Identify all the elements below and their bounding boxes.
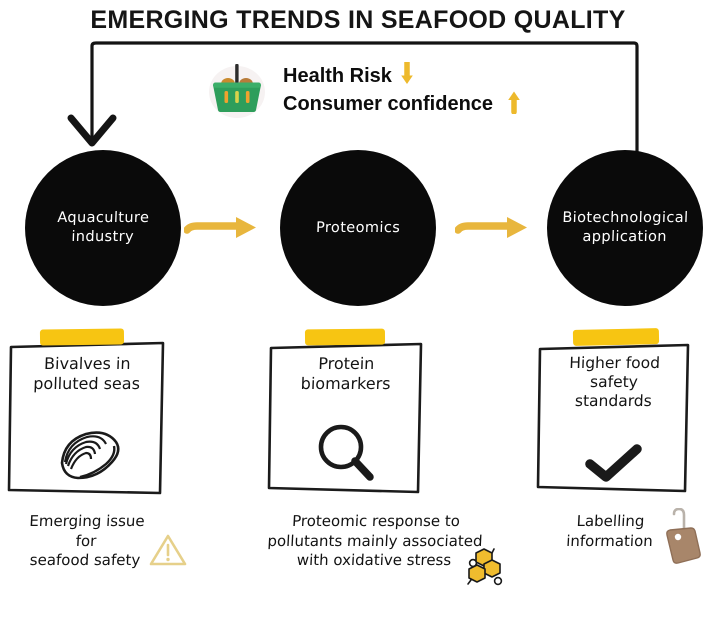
mussel-shell-icon (50, 426, 124, 484)
warning-icon-slot (148, 532, 188, 572)
kpi-label-consumer-confidence: Consumer confidence (283, 94, 493, 114)
caption-line3: seafood safety (4, 551, 165, 571)
flow-node-label-line2: industry (71, 229, 134, 245)
flow-node-label-line1: Proteomics (316, 220, 401, 236)
caption-line1: Proteomic response to (233, 512, 520, 532)
flow-node-label: Proteomics (310, 219, 407, 238)
molecule-hexagon-icon (462, 543, 508, 587)
tape-strip (305, 329, 385, 346)
warning-triangle-icon (148, 532, 188, 568)
magnifying-glass-icon (313, 420, 379, 486)
flow-node-aquaculture-industry[interactable]: Aquaculture industry (25, 150, 181, 306)
card-label-line2: safety (590, 373, 638, 391)
molecule-icon-slot (462, 543, 508, 591)
flow-node-label: Aquaculture industry (50, 209, 155, 246)
kpi-block: Health Risk Consumer confidence (283, 62, 573, 118)
card-label: Higher food safety standards (532, 354, 696, 411)
card-label: Bivalves in polluted seas (5, 354, 168, 393)
card-icon-slot (533, 444, 695, 484)
card-label-line3: standards (575, 392, 652, 410)
caption-line1: Emerging issue (7, 512, 168, 532)
right-arrow-icon (455, 213, 533, 243)
kpi-label-health-risk: Health Risk (283, 66, 392, 86)
kpi-row-health-risk: Health Risk (283, 62, 573, 90)
page-title: EMERGING TRENDS IN SEAFOOD QUALITY (0, 6, 716, 35)
card-label-line2: biomarkers (300, 374, 390, 393)
flow-node-proteomics[interactable]: Proteomics (280, 150, 436, 306)
card-bivalves[interactable]: Bivalves in polluted seas (6, 338, 168, 498)
flow-node-label-line1: Biotechnological (562, 210, 689, 226)
card-protein-biomarkers[interactable]: Protein biomarkers (265, 338, 427, 498)
card-label-line1: Bivalves in (44, 354, 131, 373)
arrow-up-icon (507, 90, 521, 118)
arrow-down-icon (400, 62, 414, 90)
card-label-line2: polluted seas (33, 374, 140, 393)
tape-strip (40, 328, 124, 345)
card-label-line1: Protein (318, 354, 375, 373)
tag-icon-slot (660, 508, 706, 572)
caption-line2: for (5, 532, 166, 552)
card-icon-slot (265, 420, 427, 486)
flow-node-label-line2: application (582, 229, 667, 245)
right-arrow-icon (184, 213, 262, 243)
price-tag-icon (660, 508, 706, 568)
flow-node-biotechnological-application[interactable]: Biotechnological application (547, 150, 703, 306)
card-label-line1: Higher food (569, 354, 660, 372)
card-icon-slot (6, 426, 168, 484)
caption-emerging-issue: Emerging issue for seafood safety (4, 512, 167, 571)
card-label: Protein biomarkers (264, 354, 427, 393)
flow-node-label: Biotechnological application (555, 209, 694, 246)
card-food-safety-standards[interactable]: Higher food safety standards (533, 338, 695, 498)
flow-node-label-line1: Aquaculture (57, 210, 150, 226)
tape-strip (573, 328, 659, 346)
infographic-canvas: EMERGING TRENDS IN SEAFOOD QUALITY Healt… (0, 0, 716, 625)
kpi-row-consumer-confidence: Consumer confidence (283, 90, 573, 118)
caption-line2: information (539, 532, 680, 552)
checkmark-icon (585, 444, 643, 484)
shopping-basket-icon (206, 58, 268, 120)
